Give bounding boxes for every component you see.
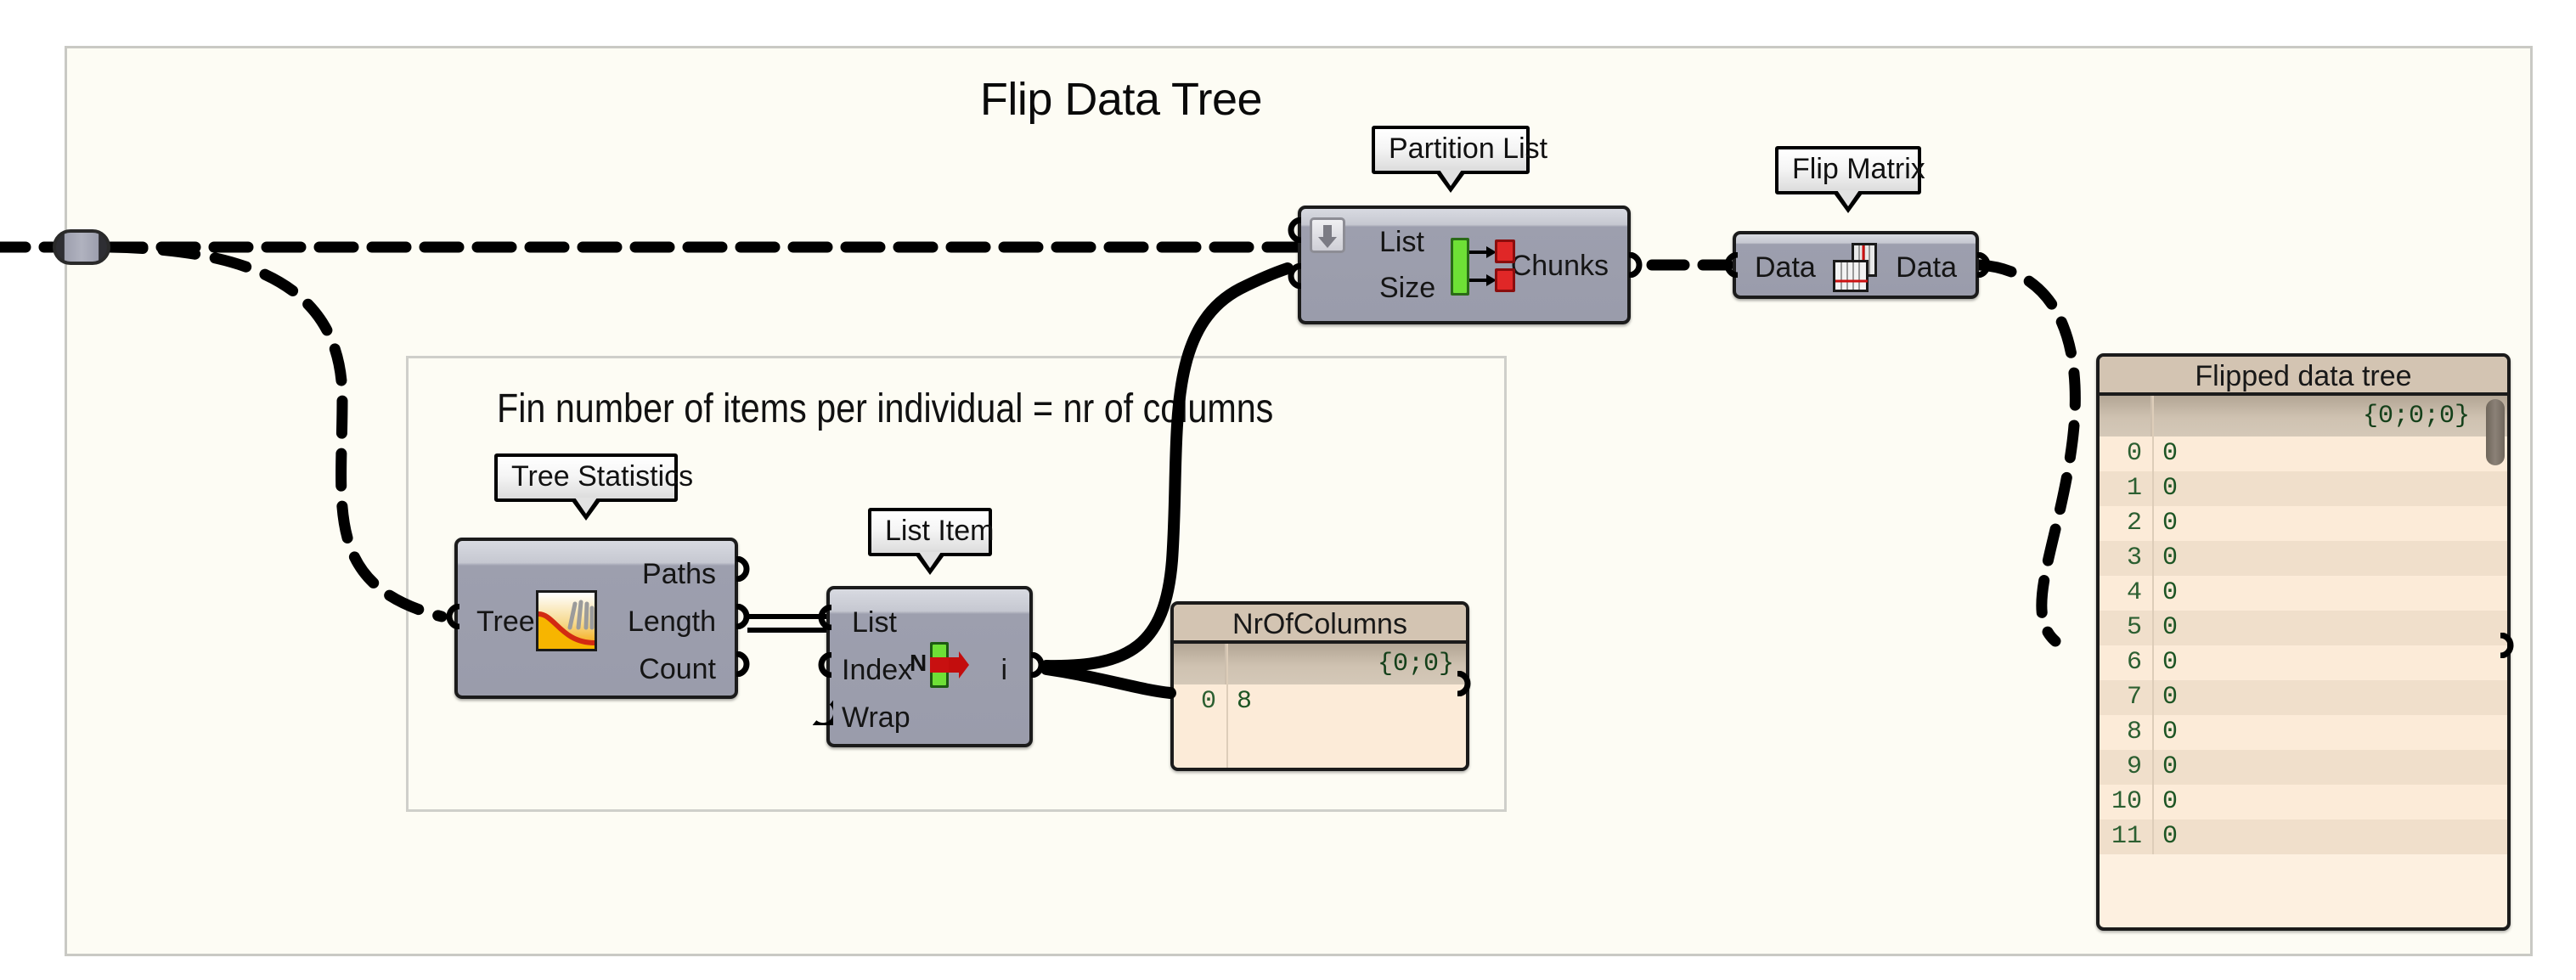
list-item-icon: N bbox=[910, 640, 969, 690]
row-value: 0 bbox=[2162, 680, 2178, 715]
callout-tail bbox=[570, 498, 602, 521]
table-row[interactable]: 10 bbox=[2100, 471, 2507, 506]
port-label-data-out: Data bbox=[1896, 253, 1957, 282]
panel-title: Flipped data tree bbox=[2100, 357, 2507, 396]
callout-tail bbox=[1435, 171, 1467, 193]
row-index: 3 bbox=[2100, 541, 2149, 576]
table-row[interactable]: 30 bbox=[2100, 541, 2507, 576]
svg-text:N: N bbox=[910, 650, 927, 676]
vertical-scrollbar[interactable] bbox=[2486, 399, 2505, 465]
page-title: Flip Data Tree bbox=[900, 73, 1342, 126]
component-list-item[interactable]: List Index Wrap i N bbox=[826, 586, 1033, 747]
row-value: 0 bbox=[2162, 715, 2178, 750]
panel-path-row: {0;0;0} bbox=[2100, 396, 2507, 436]
port-in-index[interactable] bbox=[811, 652, 833, 678]
component-partition-list[interactable]: List Size Chunks bbox=[1298, 206, 1631, 324]
row-index: 2 bbox=[2100, 506, 2149, 541]
panel-path-label: {0;0} bbox=[1378, 650, 1454, 679]
port-in-list[interactable] bbox=[1281, 217, 1303, 243]
callout-tree-statistics: Tree Statistics bbox=[494, 453, 678, 502]
row-index: 4 bbox=[2100, 576, 2149, 611]
port-label-i: i bbox=[1001, 656, 1007, 684]
table-row-empty bbox=[1174, 754, 1466, 771]
port-in-tree[interactable] bbox=[439, 604, 461, 629]
port-out-flipped-data-tree[interactable] bbox=[2497, 633, 2519, 658]
port-out-paths[interactable] bbox=[733, 556, 755, 582]
component-tree-statistics[interactable]: Tree Paths Length Count bbox=[454, 538, 738, 699]
row-index: 7 bbox=[2100, 680, 2149, 715]
table-row[interactable]: 00 bbox=[2100, 436, 2507, 471]
port-label-size: Size bbox=[1379, 273, 1435, 302]
row-index: 6 bbox=[2100, 645, 2149, 680]
collapsed-component[interactable] bbox=[53, 229, 110, 265]
flip-matrix-icon bbox=[1829, 241, 1885, 296]
panel-body: {0;0} 0 8 bbox=[1174, 644, 1466, 771]
table-row[interactable]: 80 bbox=[2100, 715, 2507, 750]
row-index: 8 bbox=[2100, 715, 2149, 750]
row-index: 10 bbox=[2100, 785, 2149, 819]
callout-partition-list-label: Partition List bbox=[1389, 132, 1547, 165]
port-out-chunks[interactable] bbox=[1626, 252, 1648, 278]
index-column-header bbox=[2100, 396, 2152, 436]
port-out-nrofcolumns[interactable] bbox=[1454, 671, 1476, 696]
row-value: 0 bbox=[2162, 819, 2178, 854]
port-label-count: Count bbox=[639, 655, 716, 684]
callout-partition-list: Partition List bbox=[1372, 126, 1530, 174]
panel-body: {0;0;0} 00102030405060708090100110 bbox=[2100, 396, 2507, 854]
row-value: 0 bbox=[2162, 576, 2178, 611]
row-value: 0 bbox=[2162, 785, 2178, 819]
port-label-list-in: List bbox=[852, 608, 897, 637]
callout-tree-statistics-label: Tree Statistics bbox=[511, 460, 693, 493]
index-column-header bbox=[1174, 644, 1226, 684]
row-value: 0 bbox=[2162, 436, 2178, 471]
table-row[interactable]: 70 bbox=[2100, 680, 2507, 715]
tree-statistics-icon bbox=[536, 590, 597, 651]
port-label-index: Index bbox=[842, 656, 912, 684]
table-row[interactable]: 50 bbox=[2100, 611, 2507, 645]
panel-path-label: {0;0;0} bbox=[2363, 402, 2470, 431]
port-in-data[interactable] bbox=[1717, 252, 1739, 278]
row-index: 5 bbox=[2100, 611, 2149, 645]
component-flip-matrix[interactable]: Data Data bbox=[1733, 231, 1979, 299]
row-value: 8 bbox=[1237, 684, 1252, 719]
row-index: 11 bbox=[2100, 819, 2149, 854]
table-row[interactable]: 20 bbox=[2100, 506, 2507, 541]
flatten-arrow-icon[interactable] bbox=[1310, 217, 1345, 253]
table-rows: 00102030405060708090100110 bbox=[2100, 436, 2507, 854]
port-label-paths: Paths bbox=[642, 560, 716, 589]
column-separator bbox=[2152, 396, 2154, 854]
table-row[interactable]: 110 bbox=[2100, 819, 2507, 854]
table-row[interactable]: 90 bbox=[2100, 750, 2507, 785]
callout-tail bbox=[1832, 191, 1864, 213]
table-row[interactable]: 0 8 bbox=[1174, 684, 1466, 719]
row-value: 0 bbox=[2162, 611, 2178, 645]
port-label-chunks: Chunks bbox=[1511, 251, 1609, 280]
table-row[interactable]: 40 bbox=[2100, 576, 2507, 611]
port-label-wrap: Wrap bbox=[842, 703, 910, 732]
port-label-data-in: Data bbox=[1755, 253, 1816, 282]
port-in-wrap[interactable] bbox=[811, 700, 833, 725]
port-out-length[interactable] bbox=[733, 604, 755, 629]
port-in-list-item-list[interactable] bbox=[811, 605, 833, 630]
port-in-size[interactable] bbox=[1281, 263, 1303, 289]
callout-flip-matrix-label: Flip Matrix bbox=[1792, 153, 1925, 185]
table-row[interactable]: 100 bbox=[2100, 785, 2507, 819]
panel-nr-of-columns[interactable]: NrOfColumns {0;0} 0 8 bbox=[1170, 601, 1469, 771]
row-value: 0 bbox=[2162, 506, 2178, 541]
port-out-data[interactable] bbox=[1974, 252, 1996, 278]
panel-title: NrOfColumns bbox=[1174, 605, 1466, 644]
port-out-i[interactable] bbox=[1028, 652, 1050, 678]
inner-group-label: Fin number of items per individual = nr … bbox=[497, 386, 1315, 432]
port-label-tree: Tree bbox=[476, 607, 535, 636]
table-row-empty bbox=[1174, 719, 1466, 754]
port-label-length: Length bbox=[628, 607, 716, 636]
panel-path-row: {0;0} bbox=[1174, 644, 1466, 684]
panel-flipped-data-tree[interactable]: Flipped data tree {0;0;0} 00102030405060… bbox=[2096, 353, 2511, 931]
row-value: 0 bbox=[2162, 645, 2178, 680]
row-index: 0 bbox=[1174, 684, 1223, 719]
row-index: 0 bbox=[2100, 436, 2149, 471]
row-value: 0 bbox=[2162, 471, 2178, 506]
port-out-count[interactable] bbox=[733, 651, 755, 677]
table-row[interactable]: 60 bbox=[2100, 645, 2507, 680]
grasshopper-canvas: Flip Data Tree Fin number of items per i… bbox=[0, 0, 2576, 980]
row-value: 0 bbox=[2162, 541, 2178, 576]
callout-list-item: List Item bbox=[868, 508, 992, 556]
callout-tail bbox=[914, 553, 946, 575]
callout-flip-matrix: Flip Matrix bbox=[1775, 146, 1921, 194]
column-separator bbox=[1226, 644, 1228, 771]
row-index: 1 bbox=[2100, 471, 2149, 506]
row-value: 0 bbox=[2162, 750, 2178, 785]
callout-list-item-label: List Item bbox=[885, 515, 994, 547]
partition-list-icon bbox=[1446, 231, 1520, 306]
row-index: 9 bbox=[2100, 750, 2149, 785]
port-label-list: List bbox=[1379, 228, 1424, 256]
